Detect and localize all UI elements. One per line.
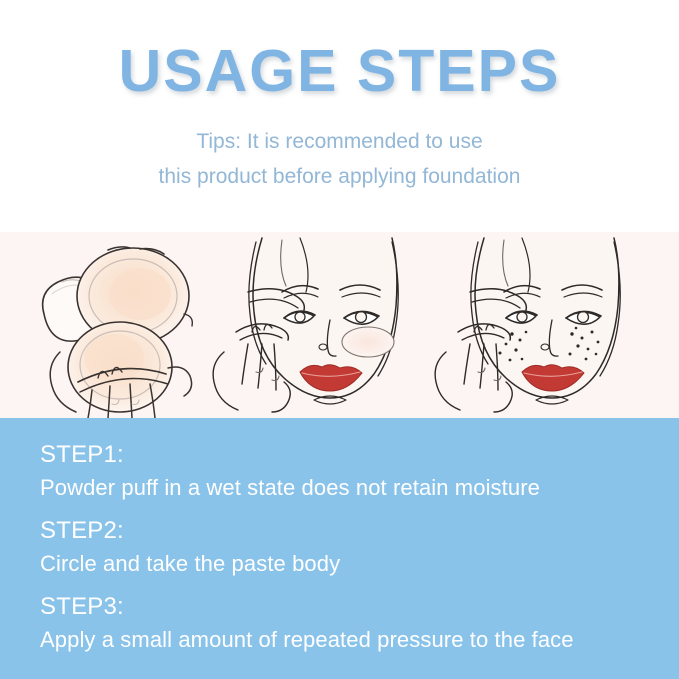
step-item-1: STEP1: Powder puff in a wet state does n… bbox=[40, 440, 660, 504]
steps-section: STEP1: Powder puff in a wet state does n… bbox=[0, 418, 679, 679]
step-3-label: STEP3: bbox=[40, 592, 660, 622]
usage-steps-infographic: USAGE STEPS Tips: It is recommended to u… bbox=[0, 0, 679, 679]
step-2-description: Circle and take the paste body bbox=[40, 548, 660, 580]
illustration-artwork bbox=[0, 232, 679, 418]
step-1-label: STEP1: bbox=[40, 440, 660, 470]
tips-line-2: this product before applying foundation bbox=[0, 159, 679, 194]
step-2-label: STEP2: bbox=[40, 516, 660, 546]
page-title: USAGE STEPS bbox=[0, 42, 679, 101]
tips-line-1: Tips: It is recommended to use bbox=[0, 124, 679, 159]
step-item-3: STEP3: Apply a small amount of repeated … bbox=[40, 592, 660, 656]
header-section: USAGE STEPS Tips: It is recommended to u… bbox=[0, 0, 679, 232]
tips-text: Tips: It is recommended to use this prod… bbox=[0, 124, 679, 194]
step-item-2: STEP2: Circle and take the paste body bbox=[40, 516, 660, 580]
step-3-description: Apply a small amount of repeated pressur… bbox=[40, 624, 660, 656]
illustration-band bbox=[0, 232, 679, 418]
step-1-description: Powder puff in a wet state does not reta… bbox=[40, 472, 660, 504]
